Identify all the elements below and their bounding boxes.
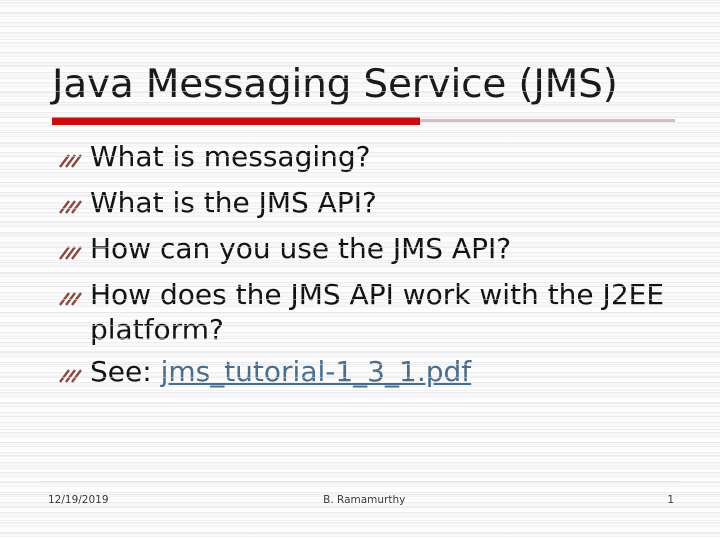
title-block: Java Messaging Service (JMS): [52, 64, 682, 106]
list-item-label: How does the JMS API work with the J2EE …: [88, 278, 678, 347]
page-title: Java Messaging Service (JMS): [52, 64, 682, 106]
list-item-prefix: See:: [90, 355, 161, 388]
list-item-label: See: jms_tutorial-1_3_1.pdf: [88, 355, 678, 390]
hatch-slashes-icon: [58, 194, 88, 224]
slide-canvas: Java Messaging Service (JMS) What is mes…: [0, 0, 720, 539]
hatch-slashes-icon: [58, 286, 88, 316]
list-item-label: How can you use the JMS API?: [88, 232, 678, 267]
list-item-label: What is the JMS API?: [88, 186, 678, 221]
hatch-slashes-icon: [58, 363, 88, 393]
title-underline-rule: [52, 117, 675, 125]
hatch-slashes-icon: [58, 148, 88, 178]
footer-page-number: 1: [660, 494, 674, 506]
bullet-list: What is messaging? What is the JMS API?: [58, 140, 678, 401]
hatch-slashes-icon: [58, 240, 88, 270]
pdf-link[interactable]: jms_tutorial-1_3_1.pdf: [161, 355, 472, 388]
list-item-label: What is messaging?: [88, 140, 678, 175]
footer-divider: [42, 481, 680, 482]
list-item: How can you use the JMS API?: [58, 232, 678, 270]
list-item: What is the JMS API?: [58, 186, 678, 224]
list-item: What is messaging?: [58, 140, 678, 178]
list-item: See: jms_tutorial-1_3_1.pdf: [58, 355, 678, 393]
title-rule-thin-segment: [420, 119, 675, 122]
footer: 12/19/2019 B. Ramamurthy 1: [48, 491, 674, 509]
footer-author: B. Ramamurthy: [109, 494, 660, 506]
list-item: How does the JMS API work with the J2EE …: [58, 278, 678, 347]
footer-date: 12/19/2019: [48, 494, 109, 506]
title-rule-thick-segment: [52, 117, 420, 125]
